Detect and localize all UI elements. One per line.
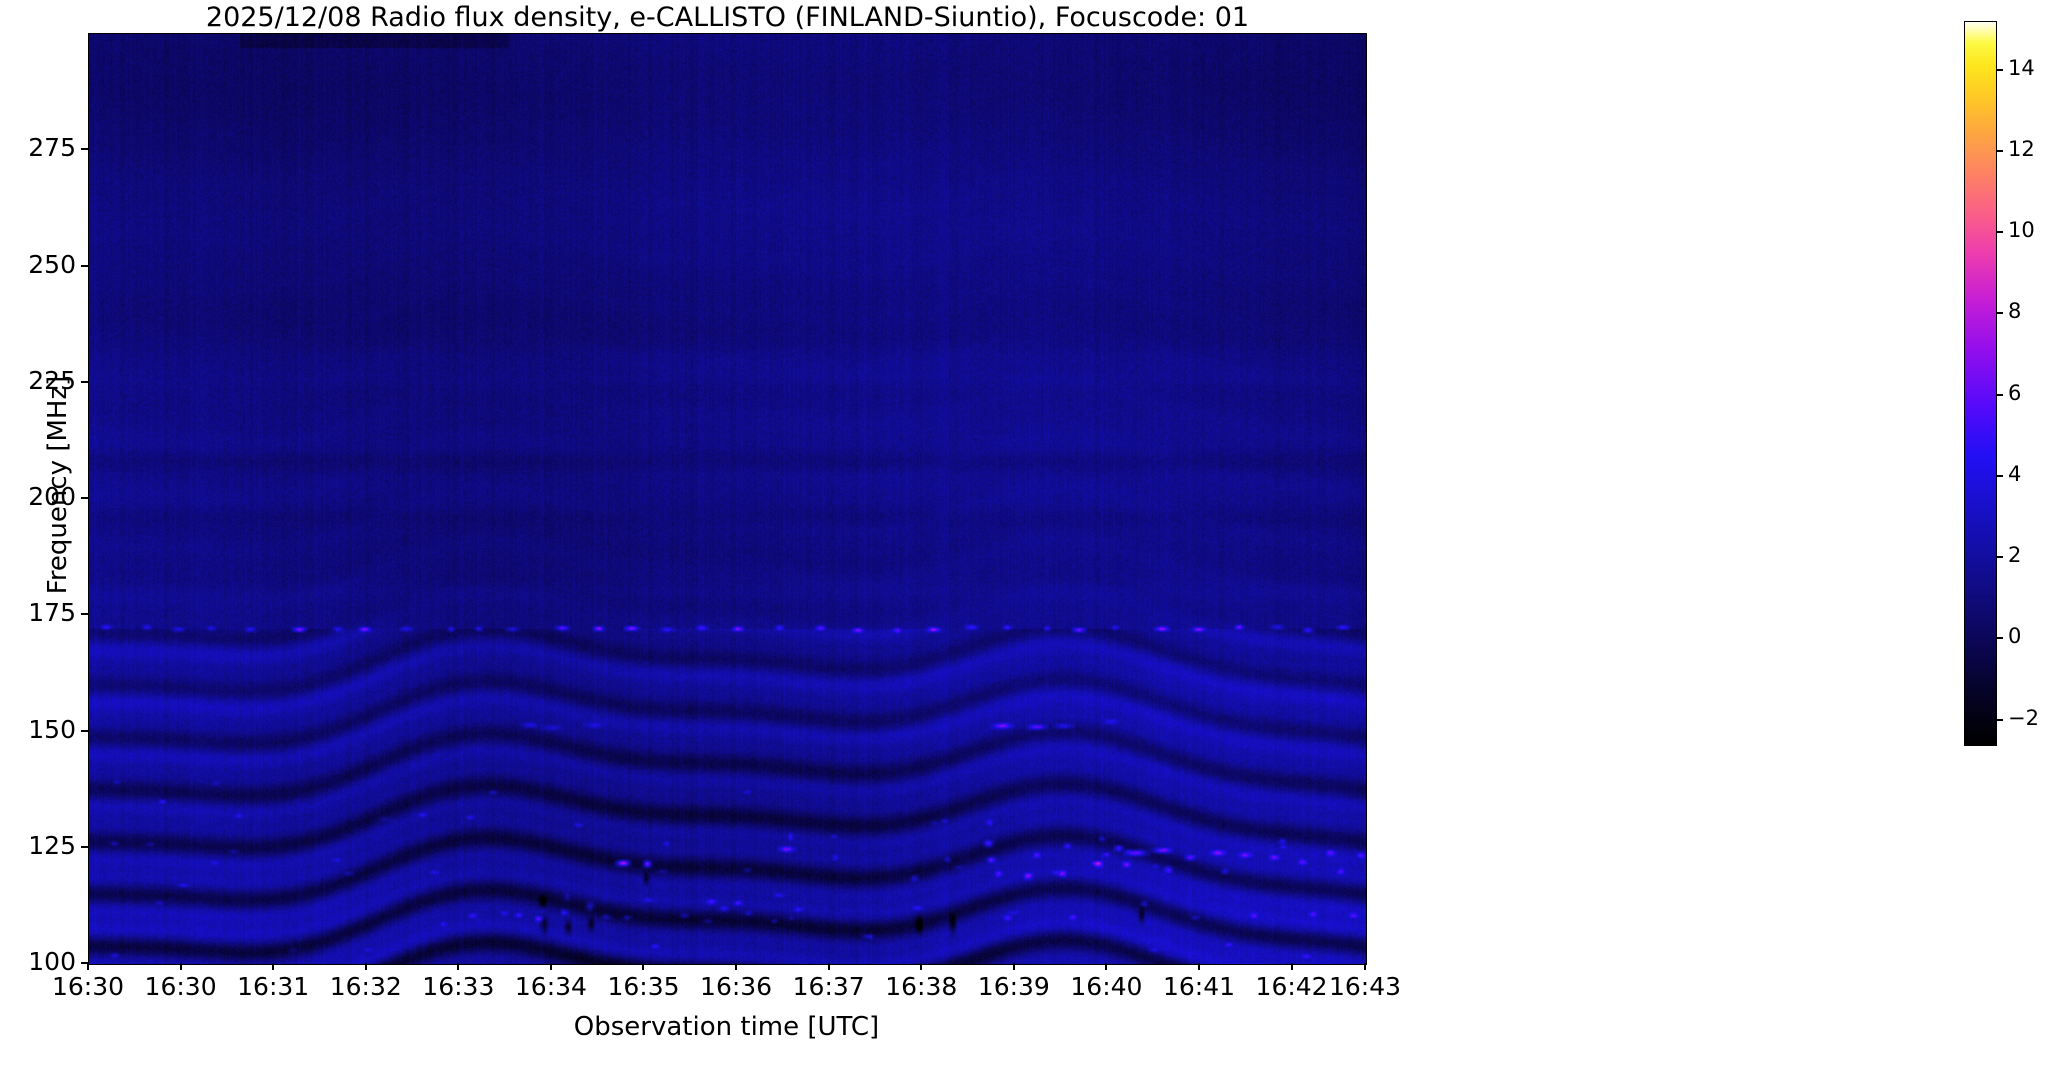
x-tick-mark <box>1291 963 1293 970</box>
x-tick-mark <box>457 963 459 970</box>
x-tick-mark <box>920 963 922 970</box>
x-tick-mark <box>87 963 89 970</box>
colorbar-tick-label: 2 <box>2008 543 2021 567</box>
x-tick-label: 16:36 <box>700 972 772 1001</box>
spectrogram-figure: 2025/12/08 Radio flux density, e-CALLIST… <box>0 0 2066 1067</box>
y-tick-mark <box>81 148 88 150</box>
x-tick-label: 16:38 <box>885 972 957 1001</box>
x-tick-label: 16:37 <box>793 972 865 1001</box>
x-tick-label: 16:33 <box>422 972 494 1001</box>
spectrogram-plot-area[interactable] <box>88 33 1367 965</box>
colorbar-gradient <box>1965 22 1996 745</box>
y-tick-mark <box>81 381 88 383</box>
colorbar-tick-mark <box>1996 394 2003 396</box>
page-title: 2025/12/08 Radio flux density, e-CALLIST… <box>0 2 1455 33</box>
colorbar-tick-mark <box>1996 556 2003 558</box>
colorbar-tick-label: 8 <box>2008 299 2021 323</box>
colorbar-tick-label: 12 <box>2008 137 2035 161</box>
colorbar-tick-label: 6 <box>2008 381 2021 405</box>
x-tick-mark <box>365 963 367 970</box>
x-tick-label: 16:35 <box>607 972 679 1001</box>
x-tick-label: 16:41 <box>1163 972 1235 1001</box>
colorbar-tick-mark <box>1996 475 2003 477</box>
colorbar-tick-label: 10 <box>2008 218 2035 242</box>
colorbar-tick-label: 14 <box>2008 56 2035 80</box>
y-tick-mark <box>81 265 88 267</box>
colorbar-tick-mark <box>1996 231 2003 233</box>
x-tick-mark <box>180 963 182 970</box>
x-tick-mark <box>735 963 737 970</box>
x-tick-mark <box>550 963 552 970</box>
x-tick-mark <box>828 963 830 970</box>
x-tick-mark <box>1105 963 1107 970</box>
x-tick-label: 16:43 <box>1329 972 1401 1001</box>
x-tick-label: 16:30 <box>52 972 124 1001</box>
x-tick-mark <box>1198 963 1200 970</box>
colorbar-tick-label: −2 <box>2008 706 2039 730</box>
colorbar-tick-mark <box>1996 69 2003 71</box>
x-tick-label: 16:34 <box>515 972 587 1001</box>
colorbar[interactable] <box>1964 21 1997 746</box>
y-axis-label: Frequency [MHz] <box>43 35 73 935</box>
x-tick-label: 16:31 <box>237 972 309 1001</box>
colorbar-tick-mark <box>1996 312 2003 314</box>
spectrogram-image[interactable] <box>89 34 1366 964</box>
x-tick-label: 16:32 <box>330 972 402 1001</box>
x-tick-mark <box>1364 963 1366 970</box>
y-tick-mark <box>81 497 88 499</box>
x-tick-mark <box>1013 963 1015 970</box>
colorbar-tick-label: 0 <box>2008 624 2021 648</box>
colorbar-tick-mark <box>1996 150 2003 152</box>
y-tick-mark <box>81 613 88 615</box>
y-tick-mark <box>81 730 88 732</box>
x-tick-label: 16:30 <box>145 972 217 1001</box>
x-tick-label: 16:39 <box>978 972 1050 1001</box>
x-tick-label: 16:40 <box>1070 972 1142 1001</box>
colorbar-tick-mark <box>1996 719 2003 721</box>
x-tick-mark <box>642 963 644 970</box>
colorbar-tick-label: 4 <box>2008 462 2021 486</box>
x-tick-label: 16:42 <box>1256 972 1328 1001</box>
y-tick-mark <box>81 846 88 848</box>
x-axis-label: Observation time [UTC] <box>88 1012 1365 1042</box>
x-tick-mark <box>272 963 274 970</box>
colorbar-tick-mark <box>1996 637 2003 639</box>
